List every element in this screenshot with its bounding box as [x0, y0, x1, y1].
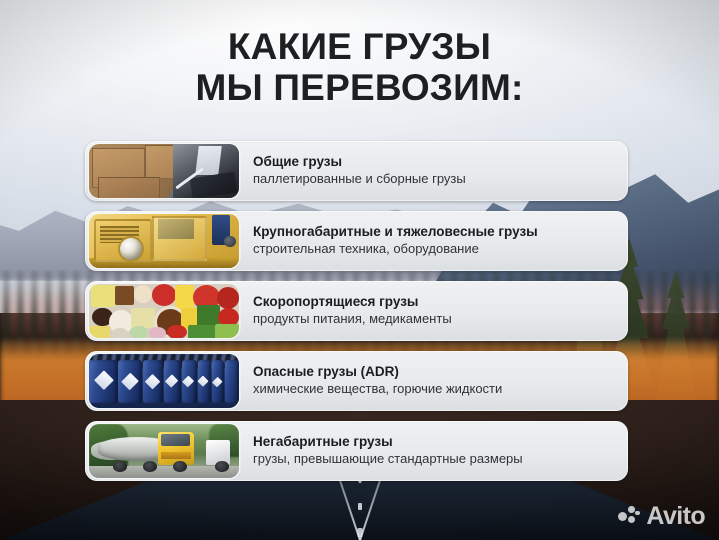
list-item-text: Крупногабаритные и тяжеловесные грузы ст…: [239, 224, 548, 259]
list-item-title: Негабаритные грузы: [253, 434, 523, 451]
page-title-line-1: КАКИЕ ГРУЗЫ: [0, 26, 719, 67]
list-item-subtitle: грузы, превышающие стандартные размеры: [253, 451, 523, 468]
fresh-food-icon: [89, 284, 239, 338]
list-item-title: Опасные грузы (ADR): [253, 364, 502, 381]
construction-machine-icon: [89, 214, 239, 268]
page-title: КАКИЕ ГРУЗЫ МЫ ПЕРЕВОЗИМ:: [0, 26, 719, 109]
list-item-title: Общие грузы: [253, 154, 466, 171]
list-item-text: Опасные грузы (ADR) химические вещества,…: [239, 364, 512, 399]
list-item-text: Негабаритные грузы грузы, превышающие ст…: [239, 434, 533, 469]
list-item-subtitle: продукты питания, медикаменты: [253, 311, 452, 328]
page-title-line-2: МЫ ПЕРЕВОЗИМ:: [0, 67, 719, 108]
list-item[interactable]: Негабаритные грузы грузы, превышающие ст…: [85, 421, 628, 481]
avito-brand-text: Avito: [646, 504, 705, 529]
list-item-title: Крупногабаритные и тяжеловесные грузы: [253, 224, 538, 241]
promo-poster: КАКИЕ ГРУЗЫ МЫ ПЕРЕВОЗИМ: Общие грузы па…: [0, 0, 719, 540]
list-item[interactable]: Крупногабаритные и тяжеловесные грузы ст…: [85, 211, 628, 271]
list-item-subtitle: паллетированные и сборные грузы: [253, 171, 466, 188]
list-item[interactable]: Общие грузы паллетированные и сборные гр…: [85, 141, 628, 201]
cargo-type-list: Общие грузы паллетированные и сборные гр…: [85, 141, 628, 481]
hazard-barrels-icon: [89, 354, 239, 408]
cardboard-boxes-icon: [89, 144, 239, 198]
list-item-title: Скоропортящиеся грузы: [253, 294, 452, 311]
avito-watermark: Avito: [618, 504, 705, 529]
road-center-dash: [357, 528, 362, 537]
list-item-subtitle: химические вещества, горючие жидкости: [253, 381, 502, 398]
road-center-dash: [358, 503, 362, 510]
list-item[interactable]: Скоропортящиеся грузы продукты питания, …: [85, 281, 628, 341]
list-item-text: Общие грузы паллетированные и сборные гр…: [239, 154, 476, 189]
oversized-load-truck-icon: [89, 424, 239, 478]
list-item-subtitle: строительная техника, оборудование: [253, 241, 538, 258]
list-item[interactable]: Опасные грузы (ADR) химические вещества,…: [85, 351, 628, 411]
list-item-text: Скоропортящиеся грузы продукты питания, …: [239, 294, 462, 329]
avito-dots-logo-icon: [618, 506, 640, 528]
